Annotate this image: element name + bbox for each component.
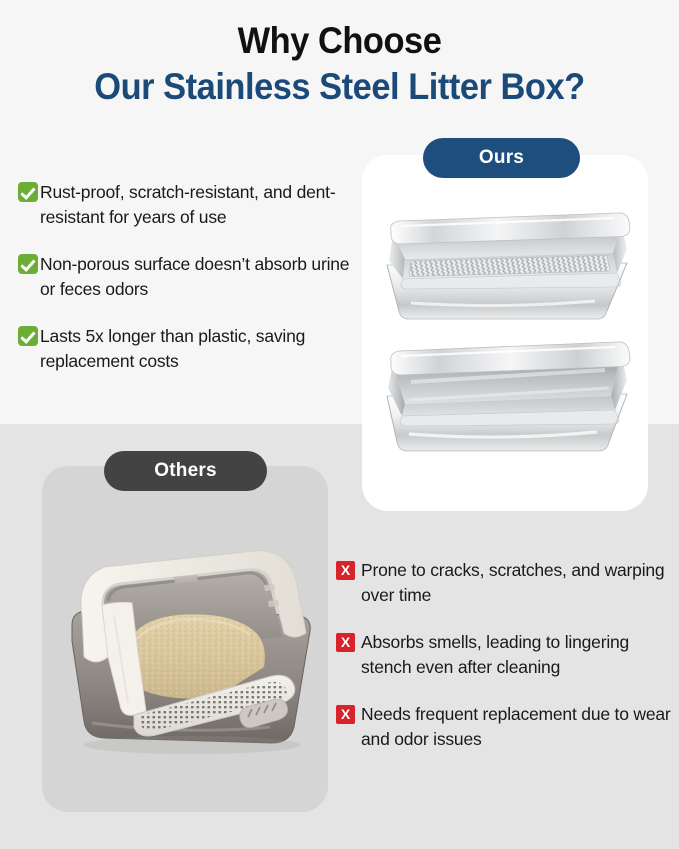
title-line-2: Our Stainless Steel Litter Box? (24, 64, 655, 110)
ours-badge-label: Ours (479, 147, 524, 169)
pros-list: Rust-proof, scratch-resistant, and dent-… (18, 180, 358, 396)
x-icon: X (336, 561, 355, 580)
cons-item-text: Needs frequent replacement due to wear a… (361, 702, 672, 752)
comparison-infographic: Why Choose Our Stainless Steel Litter Bo… (0, 0, 679, 849)
others-badge-label: Others (154, 460, 216, 482)
list-item: X Prone to cracks, scratches, and warpin… (336, 558, 672, 608)
list-item: Non-porous surface doesn’t absorb urine … (18, 252, 358, 302)
plastic-litter-box-with-litter-and-grate (58, 545, 320, 761)
check-icon (18, 182, 38, 202)
list-item: X Absorbs smells, leading to lingering s… (336, 630, 672, 680)
x-icon: X (336, 705, 355, 724)
x-icon: X (336, 633, 355, 652)
title-line-1: Why Choose (24, 18, 655, 64)
check-icon (18, 326, 38, 346)
others-badge: Others (104, 451, 267, 491)
list-item: X Needs frequent replacement due to wear… (336, 702, 672, 752)
page-title: Why Choose Our Stainless Steel Litter Bo… (0, 18, 679, 110)
cons-item-text: Absorbs smells, leading to lingering ste… (361, 630, 672, 680)
check-icon (18, 254, 38, 274)
list-item: Rust-proof, scratch-resistant, and dent-… (18, 180, 358, 230)
stainless-steel-litter-pan-textured-base (381, 203, 633, 331)
pros-item-text: Lasts 5x longer than plastic, saving rep… (40, 324, 358, 374)
cons-list: X Prone to cracks, scratches, and warpin… (336, 558, 672, 774)
stainless-steel-litter-box-deep (381, 338, 633, 463)
pros-item-text: Non-porous surface doesn’t absorb urine … (40, 252, 358, 302)
cons-item-text: Prone to cracks, scratches, and warping … (361, 558, 672, 608)
pros-item-text: Rust-proof, scratch-resistant, and dent-… (40, 180, 358, 230)
ours-badge: Ours (423, 138, 580, 178)
list-item: Lasts 5x longer than plastic, saving rep… (18, 324, 358, 374)
